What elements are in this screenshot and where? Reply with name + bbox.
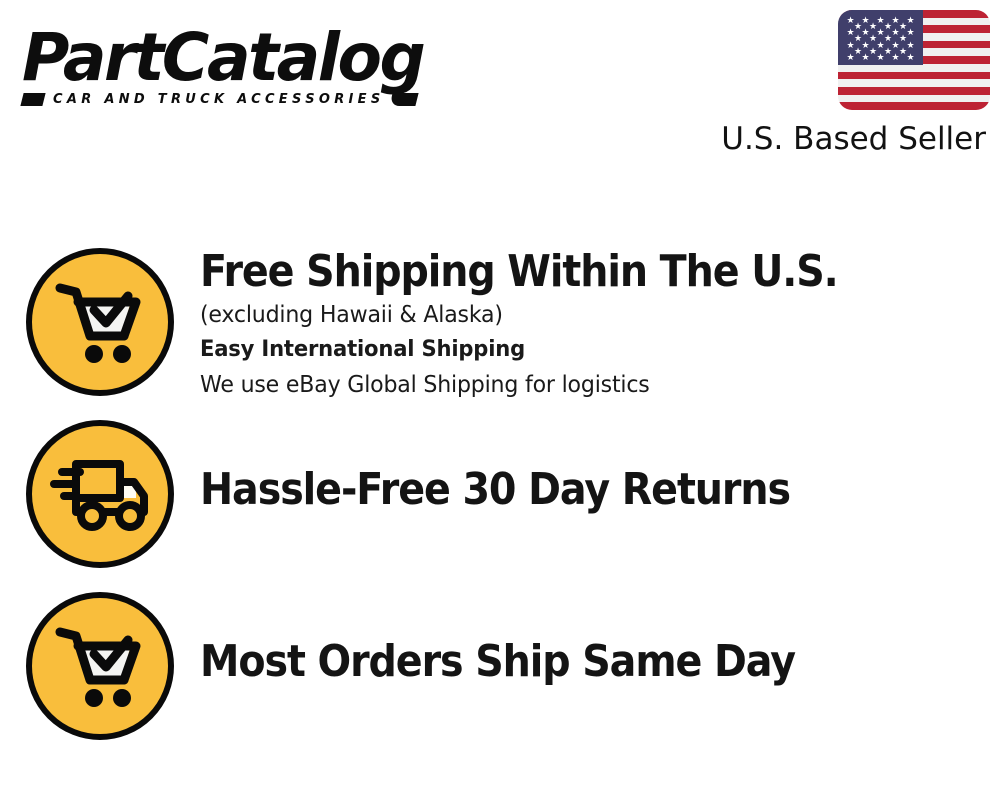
us-based-seller-badge: ★★★★★ ★★★★ ★★★★★ ★★★★ ★★★★★ ★★★★ ★★★★★ U…: [714, 10, 990, 157]
flag-canton: ★★★★★ ★★★★ ★★★★★ ★★★★ ★★★★★ ★★★★ ★★★★★: [838, 10, 923, 65]
flag-stripe: [838, 102, 990, 110]
feature-icon-wrap: [0, 404, 200, 568]
shopping-cart-check-icon: [26, 592, 174, 740]
feature-subtext-bold: Easy International Shipping: [200, 332, 968, 368]
us-based-seller-label: U.S. Based Seller: [714, 121, 990, 157]
feature-title: Hassle-Free 30 Day Returns: [200, 464, 920, 516]
feature-list: Free Shipping Within The U.S. (excluding…: [0, 232, 1000, 748]
feature-row: Most Orders Ship Same Day: [0, 576, 1000, 748]
brand-wordmark: PartCatalog: [22, 22, 483, 94]
promo-banner: PartCatalog CAR AND TRUCK ACCESSORIES ★★…: [0, 0, 1000, 800]
feature-row: Hassle-Free 30 Day Returns: [0, 404, 1000, 576]
brand-logo: PartCatalog CAR AND TRUCK ACCESSORIES: [22, 22, 492, 112]
flag-stripe: [838, 87, 990, 95]
us-flag-icon: ★★★★★ ★★★★ ★★★★★ ★★★★ ★★★★★ ★★★★ ★★★★★: [838, 10, 990, 110]
feature-title: Most Orders Ship Same Day: [200, 636, 920, 688]
logo-right-slash-icon: [389, 93, 418, 106]
flag-stripe: [838, 79, 990, 87]
delivery-truck-icon: [26, 420, 174, 568]
feature-subtext: We use eBay Global Shipping for logistic…: [200, 368, 968, 402]
brand-tagline-row: CAR AND TRUCK ACCESSORIES: [22, 88, 492, 110]
feature-title: Free Shipping Within The U.S.: [200, 246, 920, 298]
feature-text: Most Orders Ship Same Day: [200, 576, 1000, 748]
feature-icon-wrap: [0, 576, 200, 740]
feature-row: Free Shipping Within The U.S. (excluding…: [0, 232, 1000, 404]
flag-stripe: [838, 72, 990, 80]
feature-subtext: (excluding Hawaii & Alaska): [200, 298, 968, 332]
feature-text: Hassle-Free 30 Day Returns: [200, 404, 1000, 576]
shopping-cart-check-icon: [26, 248, 174, 396]
logo-left-slash-icon: [20, 93, 45, 106]
feature-text: Free Shipping Within The U.S. (excluding…: [200, 232, 1000, 402]
feature-icon-wrap: [0, 232, 200, 396]
flag-star-row: ★★★★★: [838, 53, 923, 59]
brand-tagline: CAR AND TRUCK ACCESSORIES: [53, 92, 385, 107]
flag-stripe: [838, 95, 990, 103]
